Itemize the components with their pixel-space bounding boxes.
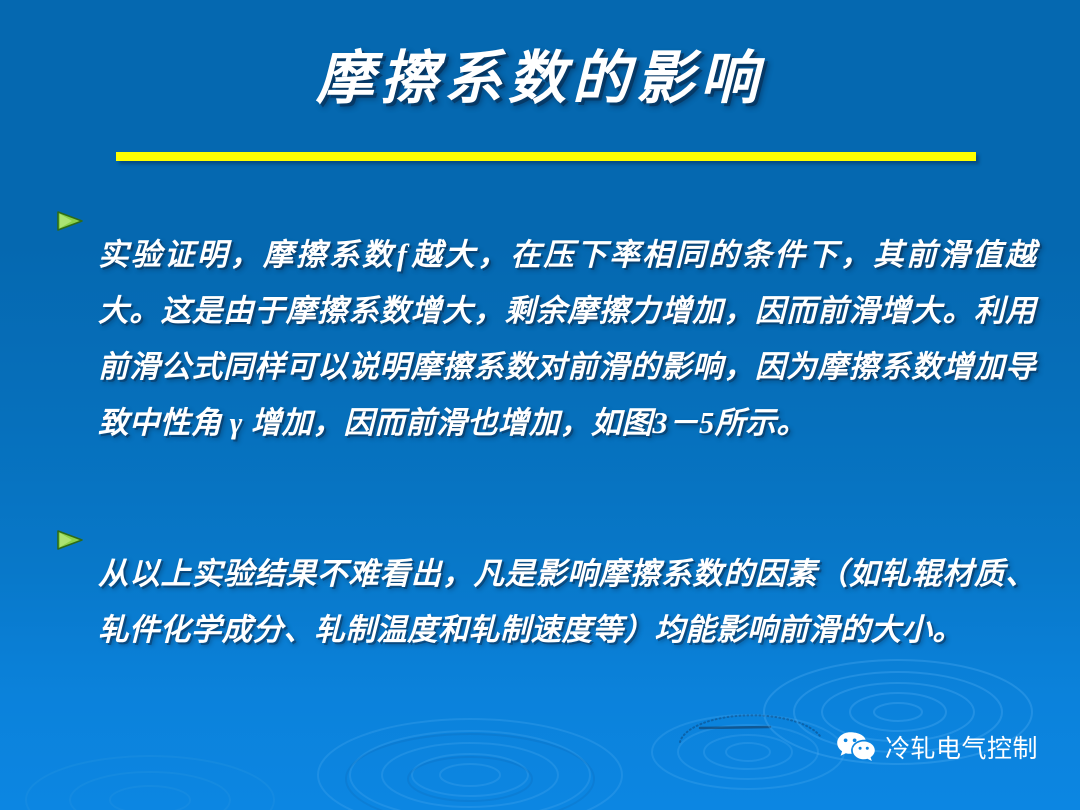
list-item-text: 实验证明，摩擦系数f越大，在压下率相同的条件下，其前滑值越大。这是由于摩擦系数增… [98, 227, 1036, 451]
slide-title-container: 摩擦系数的影响 [0, 46, 1080, 113]
title-divider [116, 152, 976, 161]
wechat-watermark: 冷轧电气控制 [836, 730, 1038, 769]
triangle-arrow-bullet-icon [56, 196, 98, 233]
wechat-logo-icon [836, 730, 876, 769]
wechat-account-name: 冷轧电气控制 [885, 737, 1038, 762]
list-item-text: 从以上实验结果不难看出，凡是影响摩擦系数的因素（如轧辊材质、轧件化学成分、轧制温… [98, 546, 1036, 658]
presentation-slide: 摩擦系数的影响 实验证明，摩擦系数f越大，在压下率相同的条件下，其前滑值越大。这… [0, 0, 1080, 810]
list-item-text-part-1: 实验证明，摩擦系数 [98, 238, 395, 272]
slide-body: 实验证明，摩擦系数f越大，在压下率相同的条件下，其前滑值越大。这是由于摩擦系数增… [56, 196, 1036, 722]
list-item: 实验证明，摩擦系数f越大，在压下率相同的条件下，其前滑值越大。这是由于摩擦系数增… [56, 196, 1036, 481]
page-title: 摩擦系数的影响 [316, 46, 764, 113]
list-item: 从以上实验结果不难看出，凡是影响摩擦系数的因素（如轧辊材质、轧件化学成分、轧制温… [56, 515, 1036, 688]
friction-coefficient-symbol: f [395, 238, 410, 272]
triangle-arrow-bullet-icon [56, 515, 98, 552]
